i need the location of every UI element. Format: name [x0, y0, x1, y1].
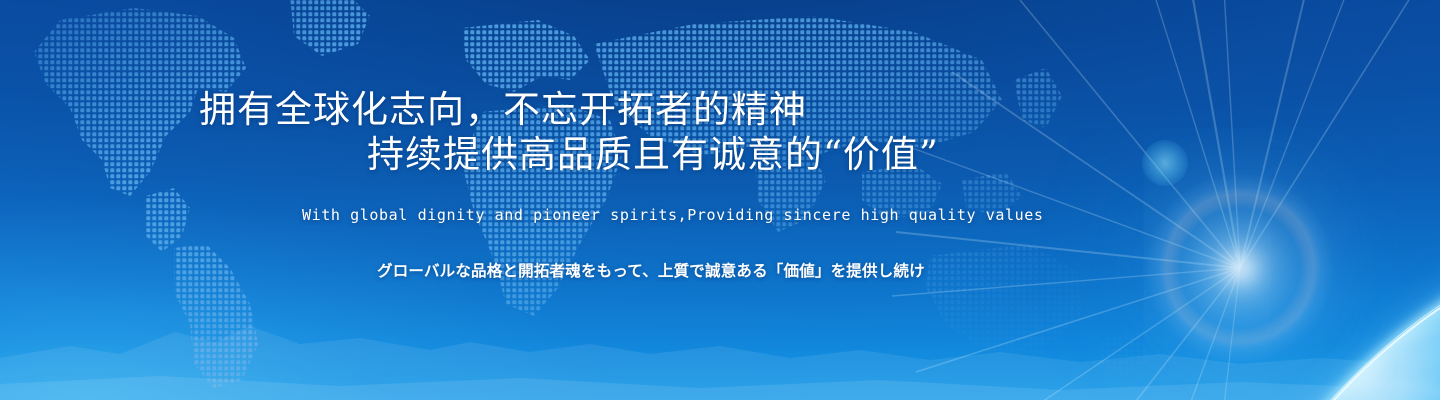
banner-copy: 拥有全球化志向，不忘开拓者的精神 持续提供高品质且有诚意的“价值” With g… — [0, 0, 1440, 400]
hero-banner: 拥有全球化志向，不忘开拓者的精神 持续提供高品质且有诚意的“价值” With g… — [0, 0, 1440, 400]
subtitle-english: With global dignity and pioneer spirits,… — [302, 206, 1044, 224]
headline-line-2: 持续提供高品质且有诚意的“价值” — [367, 132, 939, 178]
subtitle-japanese: グローバルな品格と開拓者魂をもって、上質で誠意ある「価値」を提供し続け — [377, 259, 925, 281]
headline-line-1: 拥有全球化志向，不忘开拓者的精神 — [199, 87, 807, 133]
